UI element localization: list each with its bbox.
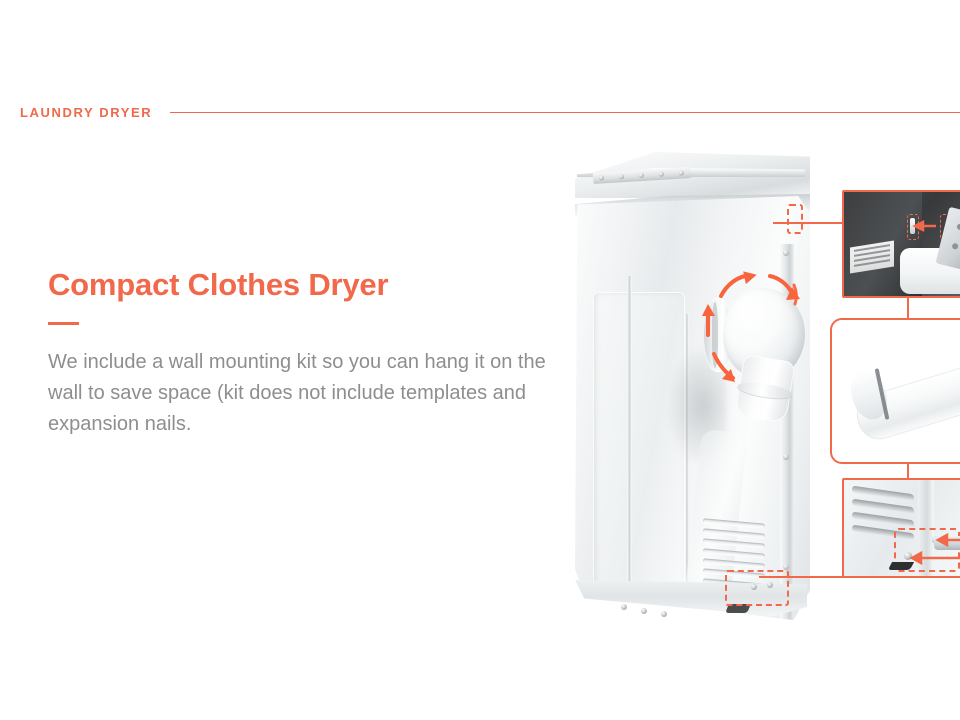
copy-block: Compact Clothes Dryer We include a wall …	[48, 268, 548, 440]
callout-arrow-overlay	[844, 192, 960, 298]
eyebrow-header: LAUNDRY DRYER	[0, 100, 960, 124]
callout-arrow-overlay	[844, 480, 960, 578]
title-divider	[48, 322, 79, 325]
product-illustration	[545, 130, 960, 670]
eyebrow-label: LAUNDRY DRYER	[20, 106, 152, 119]
slide-canvas: LAUNDRY DRYER Compact Clothes Dryer We i…	[0, 0, 960, 720]
header-rule	[170, 112, 960, 113]
connector-top-horizontal	[773, 222, 843, 224]
marker-top-mount-slot	[787, 204, 803, 234]
body-paragraph: We include a wall mounting kit so you ca…	[48, 347, 548, 440]
exhaust-vent-elbow	[703, 280, 813, 415]
connector-bottom-horizontal	[759, 576, 843, 578]
callout-exhaust-hose	[830, 318, 960, 464]
callout-wall-bracket	[842, 190, 960, 298]
panel-crease	[627, 276, 632, 606]
callout-mounting-screws	[842, 478, 960, 578]
page-title: Compact Clothes Dryer	[48, 268, 548, 302]
connector-top-to-mid	[907, 298, 909, 320]
